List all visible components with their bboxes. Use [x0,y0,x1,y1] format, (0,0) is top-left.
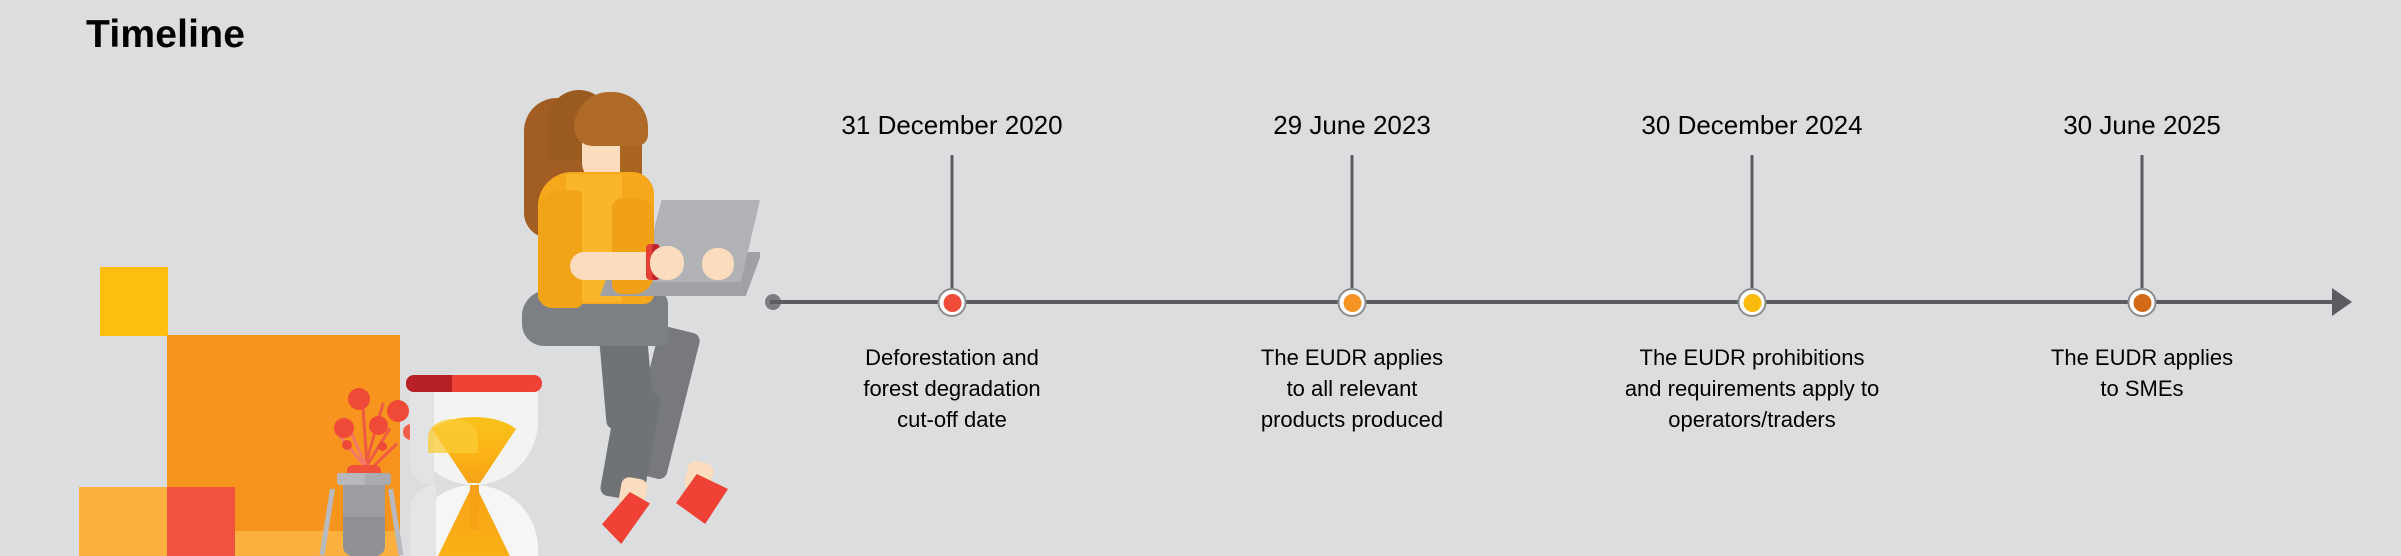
timeline-axis-line [770,300,2340,304]
timeline-node-1-date: 31 December 2020 [841,110,1062,140]
timeline-node-3-marker[interactable] [1738,288,1767,317]
timeline-node-4-date: 30 June 2025 [2063,110,2221,140]
timeline-node-3-dot-icon [1743,294,1761,312]
timeline-node-1-marker[interactable] [938,288,967,317]
timeline-node-2-marker[interactable] [1338,288,1367,317]
timeline-node-4-dot-icon [2133,294,2151,312]
timeline-node-2-date: 29 June 2023 [1273,110,1431,140]
timeline-node-2-description: The EUDR applies to all relevant product… [1187,342,1517,435]
timeline-node-1-description: Deforestation and forest degradation cut… [787,342,1117,435]
timeline-axis-group: 31 December 2020 Deforestation and fores… [0,0,2401,556]
timeline-node-3-description: The EUDR prohibitions and requirements a… [1587,342,1917,435]
timeline-node-4-description: The EUDR applies to SMEs [1977,342,2307,404]
timeline-node-1-dot-icon [943,294,961,312]
timeline-node-3-date: 30 December 2024 [1641,110,1862,140]
timeline-node-4-marker[interactable] [2128,288,2157,317]
timeline-node-2-stem [1351,155,1354,288]
timeline-infographic: Timeline [0,0,2401,556]
timeline-node-4-stem [2141,155,2144,288]
timeline-node-2-dot-icon [1343,294,1361,312]
timeline-arrow-right-icon [2332,288,2352,316]
timeline-node-3-stem [1751,155,1754,288]
timeline-node-1-stem [951,155,954,288]
